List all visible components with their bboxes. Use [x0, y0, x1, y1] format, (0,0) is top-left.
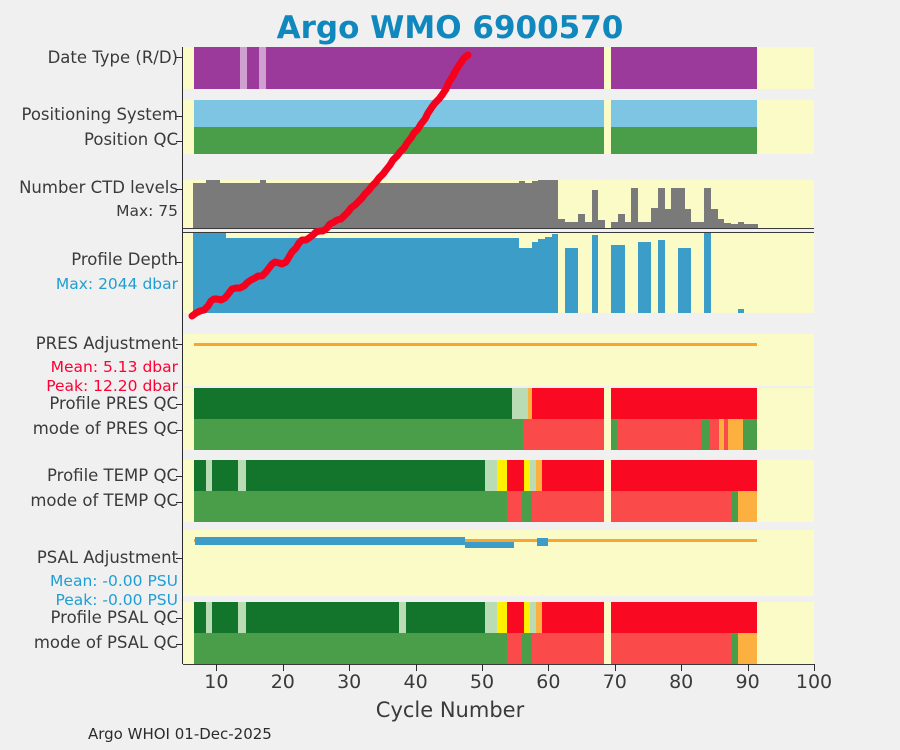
x-tick	[482, 664, 483, 671]
profile-depth-bar	[565, 248, 572, 313]
ctd-levels-bar	[426, 183, 433, 228]
ctd-levels-bar	[220, 183, 227, 228]
profile-psal-qc-segment	[611, 602, 757, 633]
ctd-levels-bar	[226, 183, 233, 228]
mode-pres-qc-segment	[523, 419, 604, 450]
ctd-levels-bar	[578, 214, 585, 228]
profile-depth-bar	[532, 242, 539, 313]
label-mode-temp-qc: mode of TEMP QC	[30, 491, 178, 510]
ctd-levels-bar	[273, 183, 280, 228]
profile-depth-bar	[505, 238, 512, 313]
label-position-qc: Position QC	[84, 130, 178, 149]
label-psal-adjustment: PSAL Adjustment	[37, 548, 178, 567]
panel-date-type	[183, 47, 814, 89]
mode-temp-qc-segment	[611, 491, 732, 522]
axis-label-column: Date Type (R/D) Positioning System Posit…	[0, 0, 178, 660]
profile-depth-bar	[426, 238, 433, 313]
ctd-levels-bar	[286, 183, 293, 228]
x-tick-label: 90	[718, 671, 778, 693]
profile-psal-qc-segment	[194, 602, 206, 633]
date-type-segment	[247, 47, 259, 89]
profile-temp-qc-segment	[611, 460, 757, 491]
panel-profile-pres-qc	[183, 388, 814, 419]
ctd-levels-bar	[333, 183, 340, 228]
mode-psal-qc-segment	[738, 633, 757, 664]
x-tick-label: 10	[186, 671, 246, 693]
profile-depth-bar	[266, 238, 273, 313]
profile-depth-bar	[319, 238, 326, 313]
ctd-levels-bar	[339, 183, 346, 228]
pres-adjustment-zero-line	[194, 343, 757, 346]
ctd-levels-bar	[532, 181, 539, 228]
x-tick	[748, 664, 749, 671]
mode-psal-qc-segment	[532, 633, 604, 664]
mode-pres-qc-segment	[611, 419, 618, 450]
x-tick-label: 60	[518, 671, 578, 693]
profile-temp-qc-segment	[212, 460, 239, 491]
profile-temp-qc-segment	[497, 460, 508, 491]
profile-depth-bar	[465, 238, 472, 313]
panel-profile-psal-qc	[183, 602, 814, 633]
ctd-levels-bar	[685, 209, 692, 228]
ctd-levels-bar	[618, 214, 625, 228]
label-profile-temp-qc: Profile TEMP QC	[47, 466, 178, 485]
positioning-system-segment	[611, 100, 757, 127]
x-tick-label: 80	[651, 671, 711, 693]
label-positioning-system: Positioning System	[21, 105, 178, 124]
label-profile-depth-max: Max: 2044 dbar	[56, 275, 178, 293]
x-tick	[814, 664, 815, 671]
ctd-levels-bar	[558, 219, 565, 228]
profile-depth-bar	[220, 232, 227, 313]
label-profile-psal-qc: Profile PSAL QC	[50, 608, 178, 627]
profile-depth-bar	[306, 238, 313, 313]
ctd-levels-bar	[658, 188, 665, 228]
mode-temp-qc-segment	[522, 491, 533, 522]
profile-temp-qc-segment	[507, 460, 524, 491]
mode-pres-qc-segment	[194, 419, 523, 450]
profile-depth-bar	[279, 238, 286, 313]
mode-psal-qc-segment	[507, 633, 522, 664]
ctd-levels-bar	[538, 180, 545, 228]
ctd-levels-bar	[319, 183, 326, 228]
profile-depth-bar	[538, 239, 545, 313]
profile-depth-bar	[246, 238, 253, 313]
label-date-type: Date Type (R/D)	[48, 48, 178, 67]
profile-depth-bar	[233, 238, 240, 313]
profile-depth-bar	[299, 238, 306, 313]
panel-positioning-system	[183, 100, 814, 127]
profile-depth-bar	[704, 232, 711, 313]
label-pres-adjustment: PRES Adjustment	[36, 334, 178, 353]
profile-psal-qc-segment	[497, 602, 508, 633]
profile-temp-qc-segment	[246, 460, 486, 491]
ctd-levels-bar	[359, 183, 366, 228]
ctd-levels-bar	[246, 183, 253, 228]
profile-psal-qc-segment	[238, 602, 245, 633]
panel-number-ctd-levels	[183, 180, 814, 228]
ctd-levels-bar	[299, 183, 306, 228]
x-tick-label: 70	[585, 671, 645, 693]
profile-depth-bar	[499, 238, 506, 313]
ctd-levels-bar	[233, 183, 240, 228]
date-type-segment	[240, 47, 247, 89]
profile-depth-bar	[552, 234, 559, 313]
profile-temp-qc-segment	[194, 460, 206, 491]
label-mode-psal-qc: mode of PSAL QC	[34, 633, 178, 652]
date-type-segment	[194, 47, 240, 89]
profile-depth-bar	[685, 248, 692, 313]
mode-psal-qc-segment	[522, 633, 533, 664]
profile-depth-bar	[525, 248, 532, 313]
ctd-levels-bar	[372, 183, 379, 228]
mode-temp-qc-segment	[507, 491, 522, 522]
y-axis-line	[182, 47, 183, 664]
panel-mode-psal-qc	[183, 633, 814, 664]
panel-position-qc	[183, 127, 814, 154]
profile-psal-qc-segment	[524, 602, 531, 633]
ctd-levels-bar	[432, 183, 439, 228]
ctd-levels-bar	[313, 183, 320, 228]
x-axis-line	[183, 664, 814, 665]
ctd-levels-bar	[326, 183, 333, 228]
mode-pres-qc-segment	[728, 419, 743, 450]
ctd-levels-bar	[525, 183, 532, 228]
date-type-segment	[266, 47, 605, 89]
profile-temp-qc-segment	[542, 460, 604, 491]
profile-psal-qc-segment	[399, 602, 406, 633]
ctd-levels-bar	[492, 183, 499, 228]
x-axis-title: Cycle Number	[0, 698, 900, 722]
ctd-levels-bar	[406, 183, 413, 228]
mode-temp-qc-segment	[738, 491, 757, 522]
profile-depth-bar	[445, 238, 452, 313]
profile-depth-bar	[286, 238, 293, 313]
footer-credit: Argo WHOI 01-Dec-2025	[88, 725, 272, 743]
profile-depth-bar	[432, 238, 439, 313]
mode-pres-qc-segment	[617, 419, 701, 450]
label-profile-depth: Profile Depth	[71, 250, 178, 269]
profile-depth-bar	[372, 238, 379, 313]
profile-depth-bar	[346, 238, 353, 313]
ctd-levels-bar	[412, 183, 419, 228]
ctd-levels-bar	[306, 183, 313, 228]
ctd-levels-bar	[665, 209, 672, 228]
ctd-levels-bar	[366, 183, 373, 228]
ctd-levels-bar	[704, 188, 711, 228]
x-tick-label: 30	[319, 671, 379, 693]
ctd-levels-bar	[671, 188, 678, 228]
ctd-levels-bar	[545, 180, 552, 228]
ctd-levels-bar	[213, 180, 220, 228]
ctd-levels-bar	[485, 183, 492, 228]
mode-pres-qc-segment	[701, 419, 710, 450]
ctd-levels-bar	[592, 190, 599, 228]
label-pres-adjustment-mean: Mean: 5.13 dbar	[51, 358, 178, 376]
ctd-levels-bar	[465, 183, 472, 228]
panel-profile-temp-qc	[183, 460, 814, 491]
label-mode-pres-qc: mode of PRES QC	[33, 419, 178, 438]
mode-temp-qc-segment	[732, 491, 739, 522]
profile-depth-bar	[333, 238, 340, 313]
mode-pres-qc-segment	[710, 419, 719, 450]
x-tick	[216, 664, 217, 671]
ctd-levels-bar	[386, 183, 393, 228]
profile-depth-bar	[645, 242, 652, 313]
ctd-levels-bar	[512, 183, 519, 228]
ctd-baseline	[183, 228, 814, 229]
profile-depth-bar	[472, 238, 479, 313]
ctd-levels-bar	[452, 183, 459, 228]
ctd-levels-bar	[353, 183, 360, 228]
profile-depth-bar	[419, 238, 426, 313]
label-profile-pres-qc: Profile PRES QC	[49, 394, 178, 413]
ctd-levels-bar	[206, 180, 213, 228]
ctd-levels-bar	[552, 180, 559, 228]
profile-depth-bar	[459, 238, 466, 313]
ctd-levels-bar	[598, 220, 605, 228]
profile-depth-bar	[485, 238, 492, 313]
panel-mode-temp-qc	[183, 491, 814, 522]
ctd-levels-bar	[379, 183, 386, 228]
profile-depth-bar	[618, 245, 625, 313]
ctd-levels-bar	[459, 183, 466, 228]
profile-psal-qc-segment	[485, 602, 496, 633]
profile-depth-bar	[611, 245, 618, 313]
psal-adjustment-series-segment	[537, 538, 548, 546]
x-tick	[615, 664, 616, 671]
panel-psal-adjustment	[183, 530, 814, 596]
ctd-levels-bar	[279, 183, 286, 228]
profile-depth-bar	[658, 240, 665, 313]
profile-depth-bar	[738, 309, 745, 313]
ctd-levels-bar	[445, 183, 452, 228]
depth-topline	[183, 232, 814, 233]
x-tick-label: 100	[784, 671, 844, 693]
mode-pres-qc-segment	[743, 419, 757, 450]
profile-depth-bar	[412, 238, 419, 313]
profile-depth-bar	[253, 238, 260, 313]
profile-temp-qc-segment	[524, 460, 531, 491]
ctd-levels-bar	[193, 183, 200, 228]
date-type-segment	[259, 47, 266, 89]
psal-adjustment-series-segment	[465, 542, 513, 548]
profile-depth-bar	[240, 238, 247, 313]
profile-depth-bar	[406, 238, 413, 313]
panel-profile-depth	[183, 232, 814, 313]
x-tick	[681, 664, 682, 671]
profile-depth-bar	[366, 238, 373, 313]
profile-depth-bar	[439, 238, 446, 313]
profile-depth-bar	[226, 238, 233, 313]
ctd-levels-bar	[253, 183, 260, 228]
ctd-levels-bar	[346, 183, 353, 228]
profile-depth-bar	[519, 248, 526, 313]
label-number-ctd-levels: Number CTD levels	[19, 178, 178, 197]
profile-depth-bar	[572, 248, 579, 313]
profile-psal-qc-segment	[246, 602, 399, 633]
ctd-levels-bar	[392, 183, 399, 228]
ctd-levels-bar	[439, 183, 446, 228]
profile-psal-qc-segment	[406, 602, 486, 633]
profile-depth-bar	[213, 232, 220, 313]
profile-psal-qc-segment	[212, 602, 239, 633]
mode-psal-qc-segment	[194, 633, 507, 664]
ctd-levels-bar	[240, 183, 247, 228]
profile-pres-qc-segment	[532, 388, 604, 419]
profile-depth-bar	[392, 238, 399, 313]
ctd-levels-bar	[266, 183, 273, 228]
ctd-levels-bar	[505, 183, 512, 228]
profile-depth-bar	[206, 232, 213, 313]
profile-depth-bar	[678, 248, 685, 313]
label-pres-adjustment-peak: Peak: 12.20 dbar	[46, 377, 178, 395]
ctd-levels-bar	[499, 183, 506, 228]
x-tick	[283, 664, 284, 671]
position-qc-segment	[194, 127, 604, 154]
ctd-levels-bar	[472, 183, 479, 228]
mode-psal-qc-segment	[611, 633, 732, 664]
profile-depth-bar	[379, 238, 386, 313]
mode-temp-qc-segment	[532, 491, 604, 522]
ctd-levels-bar	[678, 188, 685, 228]
profile-depth-bar	[273, 238, 280, 313]
ctd-levels-bar	[200, 183, 207, 228]
profile-depth-bar	[353, 238, 360, 313]
position-qc-segment	[611, 127, 757, 154]
profile-depth-bar	[260, 238, 267, 313]
date-type-segment	[611, 47, 757, 89]
profile-depth-bar	[452, 238, 459, 313]
profile-depth-bar	[386, 238, 393, 313]
ctd-levels-bar	[419, 183, 426, 228]
profile-temp-qc-segment	[238, 460, 245, 491]
profile-depth-bar	[193, 232, 200, 313]
profile-depth-bar	[313, 238, 320, 313]
ctd-levels-bar	[260, 180, 267, 228]
label-ctd-levels-max: Max: 75	[116, 202, 178, 220]
profile-depth-bar	[479, 238, 486, 313]
x-tick	[349, 664, 350, 671]
profile-pres-qc-segment	[512, 388, 528, 419]
ctd-levels-bar	[711, 209, 718, 228]
label-psal-adjustment-mean: Mean: -0.00 PSU	[50, 572, 178, 590]
x-tick	[416, 664, 417, 671]
x-tick-label: 40	[386, 671, 446, 693]
panel-mode-pres-qc	[183, 419, 814, 450]
profile-pres-qc-segment	[611, 388, 757, 419]
profile-depth-bar	[638, 242, 645, 313]
label-psal-adjustment-peak: Peak: -0.00 PSU	[55, 591, 178, 609]
profile-psal-qc-segment	[507, 602, 524, 633]
ctd-levels-bar	[631, 188, 638, 228]
profile-temp-qc-segment	[485, 460, 496, 491]
profile-depth-bar	[512, 238, 519, 313]
ctd-levels-bar	[293, 183, 300, 228]
x-tick	[548, 664, 549, 671]
mode-psal-qc-segment	[732, 633, 739, 664]
profile-depth-bar	[492, 238, 499, 313]
profile-pres-qc-segment	[194, 388, 512, 419]
profile-depth-bar	[359, 238, 366, 313]
ctd-levels-bar	[479, 183, 486, 228]
profile-depth-bar	[200, 232, 207, 313]
profile-depth-bar	[399, 238, 406, 313]
x-tick-label: 50	[452, 671, 512, 693]
ctd-levels-bar	[718, 219, 725, 228]
profile-depth-bar	[339, 238, 346, 313]
x-tick-label: 20	[253, 671, 313, 693]
ctd-levels-bar	[399, 183, 406, 228]
profile-psal-qc-segment	[542, 602, 604, 633]
ctd-levels-bar	[651, 208, 658, 228]
profile-depth-bar	[592, 235, 599, 313]
ctd-levels-bar	[519, 181, 526, 228]
profile-depth-bar	[545, 237, 552, 313]
positioning-system-segment	[194, 100, 604, 127]
profile-depth-bar	[326, 238, 333, 313]
profile-depth-bar	[293, 238, 300, 313]
panel-pres-adjustment	[183, 334, 814, 386]
psal-adjustment-series-segment	[195, 537, 465, 545]
mode-temp-qc-segment	[194, 491, 507, 522]
